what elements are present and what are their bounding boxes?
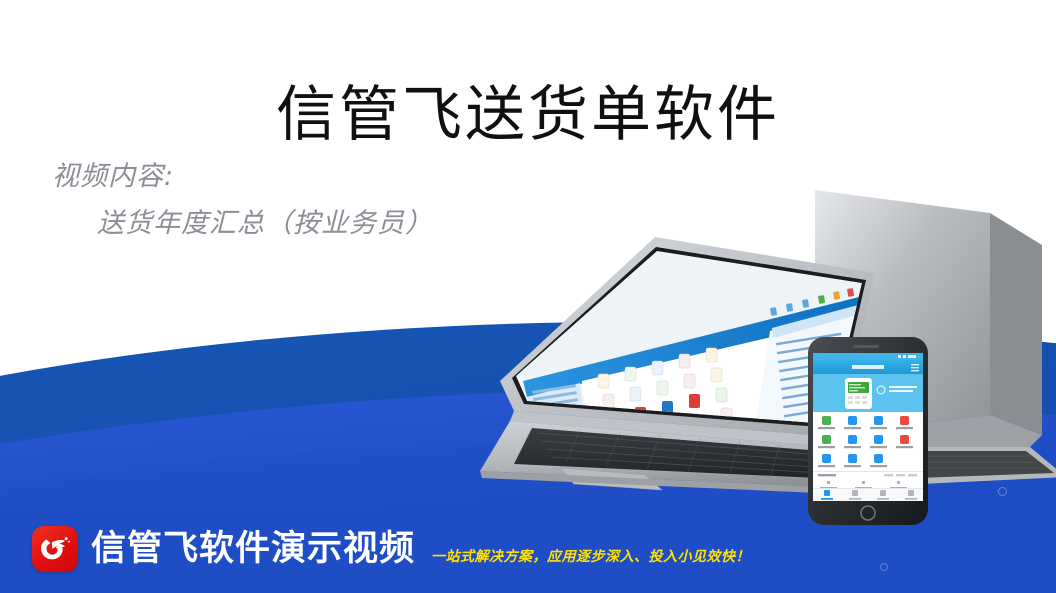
- footer-bar: 信管飞软件演示视频 一站式解决方案，应用逐步深入、投入小见效快！: [0, 505, 1056, 593]
- video-content-label: 视频内容:: [52, 157, 433, 196]
- video-content-value: 送货年度汇总（按业务员）: [52, 204, 433, 243]
- footer-brand-name: 信管飞软件演示视频: [91, 532, 415, 567]
- footer-brand-text: 信管飞软件演示视频: [91, 529, 415, 569]
- smartphone: [808, 337, 928, 525]
- decoration-dot: [998, 487, 1007, 496]
- device-photo-group: [470, 185, 1056, 525]
- page-title: 信管飞送货单软件: [0, 82, 1056, 149]
- footer-tagline: 一站式解决方案，应用逐步深入、投入小见效快！: [431, 546, 750, 566]
- video-content-block: 视频内容: 送货年度汇总（按业务员）: [52, 157, 433, 243]
- brand-logo-icon: [32, 526, 78, 572]
- slide-root: 信管飞送货单软件 视频内容: 送货年度汇总（按业务员） 信管飞软件演示视频 一站…: [0, 0, 1056, 593]
